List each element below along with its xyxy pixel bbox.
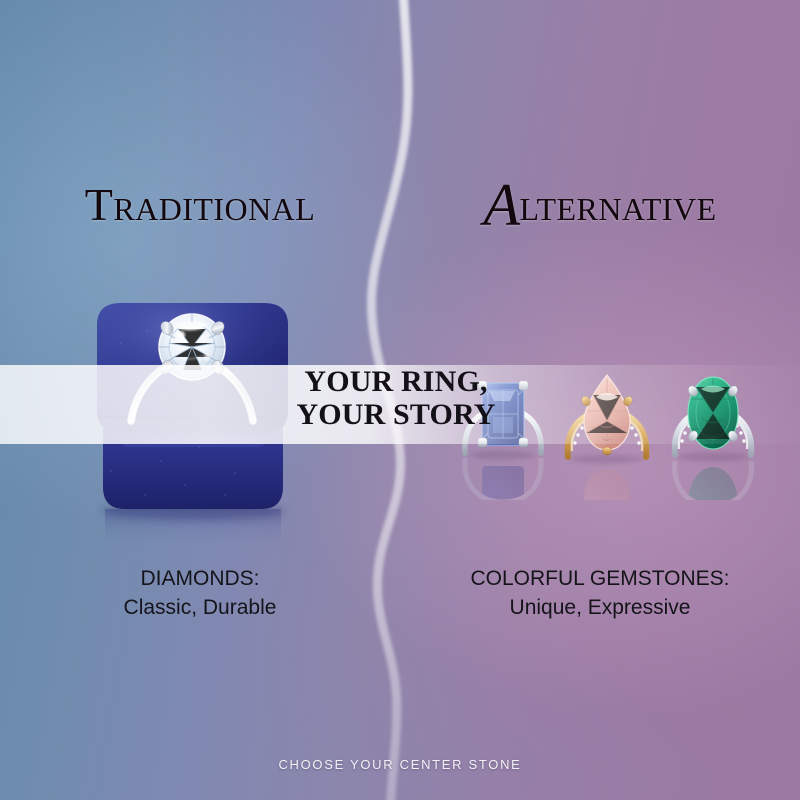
caption-gemstones: COLORFUL GEMSTONES: Unique, Expressive xyxy=(410,565,790,623)
banner-line-2: YOUR STORY xyxy=(296,399,496,432)
heading-alternative-rest: lternative xyxy=(519,179,716,230)
heading-alternative: Alternative xyxy=(400,178,800,231)
heading-traditional: Traditional xyxy=(0,178,400,231)
promo-graphic: Traditional Alternative YOUR RING, YOUR … xyxy=(0,0,800,800)
banner-line-1: YOUR RING, xyxy=(296,366,496,399)
caption-diamonds: DIAMONDS: Classic, Durable xyxy=(10,565,390,623)
footer-tagline: CHOOSE YOUR CENTER STONE xyxy=(0,757,800,772)
heading-alternative-initial: A xyxy=(483,172,519,238)
center-banner-text: YOUR RING, YOUR STORY xyxy=(296,366,496,431)
